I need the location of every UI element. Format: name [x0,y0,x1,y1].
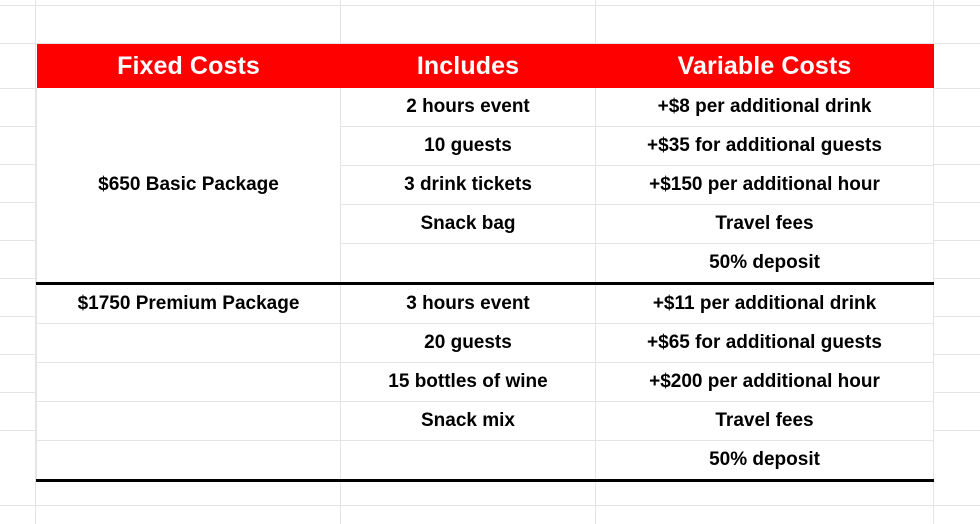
fixed-costs-cell-empty[interactable] [37,324,341,363]
table-body: $650 Basic Package 2 hours event +$8 per… [37,88,934,481]
fixed-costs-cell-empty[interactable] [37,402,341,441]
column-header-includes[interactable]: Includes [341,44,596,88]
spreadsheet-canvas: Fixed Costs Includes Variable Costs $650… [0,0,980,524]
includes-cell[interactable]: 20 guests [341,324,596,363]
variable-cost-cell[interactable]: +$150 per additional hour [596,166,934,205]
variable-cost-cell[interactable]: +$11 per additional drink [596,284,934,324]
header-row: Fixed Costs Includes Variable Costs [37,44,934,88]
fixed-costs-cell-empty[interactable] [37,363,341,402]
includes-cell[interactable]: 15 bottles of wine [341,363,596,402]
table-row: $1750 Premium Package 3 hours event +$11… [37,284,934,324]
package-name-premium[interactable]: $1750 Premium Package [37,284,341,324]
variable-cost-cell[interactable]: 50% deposit [596,244,934,284]
pricing-table-container: Fixed Costs Includes Variable Costs $650… [36,44,933,482]
table-row: Snack mix Travel fees [37,402,934,441]
variable-cost-cell[interactable]: 50% deposit [596,441,934,481]
variable-cost-cell[interactable]: Travel fees [596,402,934,441]
table-row: 15 bottles of wine +$200 per additional … [37,363,934,402]
includes-cell[interactable]: Snack bag [341,205,596,244]
grid-hline [0,505,980,506]
includes-cell[interactable]: 3 drink tickets [341,166,596,205]
includes-cell-empty[interactable] [341,441,596,481]
variable-cost-cell[interactable]: +$35 for additional guests [596,127,934,166]
fixed-costs-cell-empty[interactable] [37,441,341,481]
pricing-table: Fixed Costs Includes Variable Costs $650… [36,44,934,482]
column-header-variable-costs[interactable]: Variable Costs [596,44,934,88]
table-row: $650 Basic Package 2 hours event +$8 per… [37,88,934,127]
table-header: Fixed Costs Includes Variable Costs [37,44,934,88]
table-row: 20 guests +$65 for additional guests [37,324,934,363]
includes-cell[interactable]: Snack mix [341,402,596,441]
includes-cell[interactable]: 10 guests [341,127,596,166]
package-name-basic[interactable]: $650 Basic Package [37,88,341,284]
column-header-fixed-costs[interactable]: Fixed Costs [37,44,341,88]
variable-cost-cell[interactable]: +$8 per additional drink [596,88,934,127]
variable-cost-cell[interactable]: +$65 for additional guests [596,324,934,363]
variable-cost-cell[interactable]: +$200 per additional hour [596,363,934,402]
includes-cell-empty[interactable] [341,244,596,284]
includes-cell[interactable]: 2 hours event [341,88,596,127]
variable-cost-cell[interactable]: Travel fees [596,205,934,244]
grid-hline [0,5,980,6]
includes-cell[interactable]: 3 hours event [341,284,596,324]
table-row: 50% deposit [37,441,934,481]
